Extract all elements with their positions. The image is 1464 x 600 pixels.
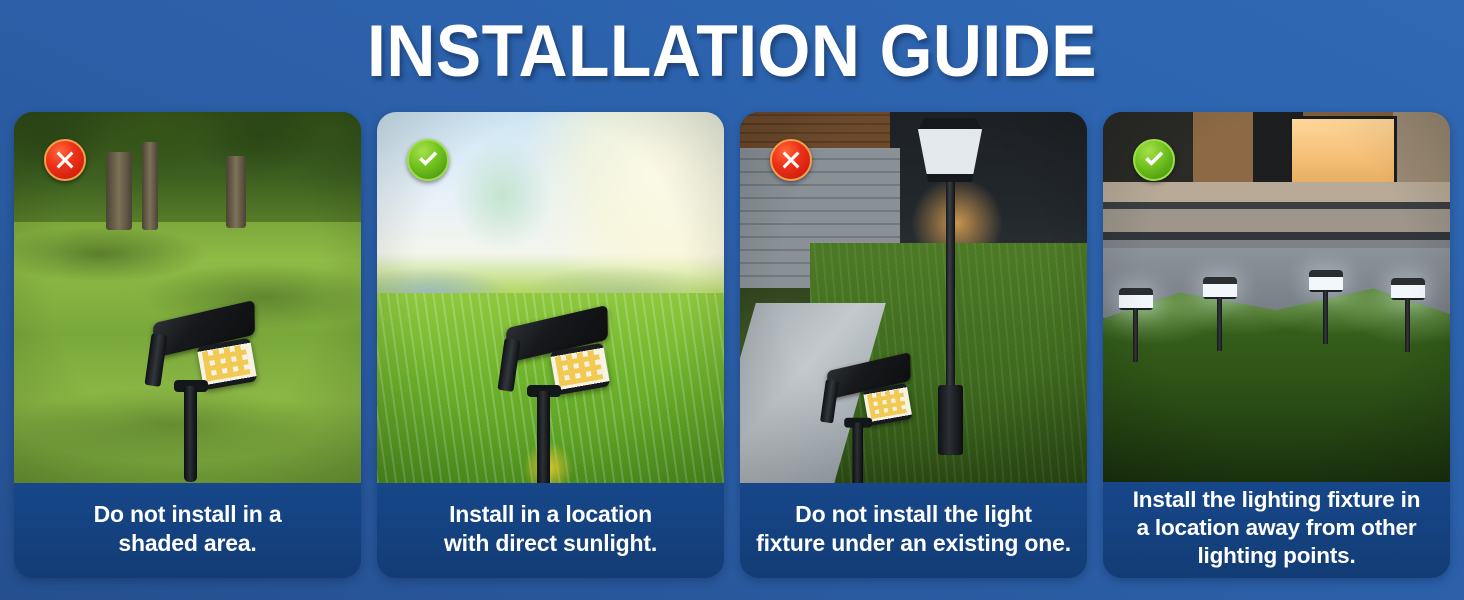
guide-card-grid: Do not install in a shaded area. bbox=[14, 112, 1450, 578]
guide-card-away-from-other-lights: Install the lighting fixture in a locati… bbox=[1103, 112, 1450, 578]
page-title: INSTALLATION GUIDE bbox=[51, 12, 1413, 92]
check-badge-icon bbox=[1133, 139, 1175, 181]
card-photo-under-existing-fixture bbox=[740, 112, 1087, 483]
solar-spotlight-fixture bbox=[142, 312, 272, 483]
cross-badge-icon bbox=[44, 139, 86, 181]
ground-stake bbox=[1133, 309, 1138, 362]
fixture-neck bbox=[820, 379, 839, 423]
solar-path-light bbox=[1309, 270, 1343, 344]
guide-card-under-existing-fixture: Do not install the light fixture under a… bbox=[740, 112, 1087, 578]
card-photo-shaded-area bbox=[14, 112, 361, 483]
caption-line: Install in a location bbox=[449, 501, 652, 527]
caption-text: Do not install the light fixture under a… bbox=[756, 500, 1071, 558]
ground-stake bbox=[1323, 291, 1328, 344]
guide-card-direct-sunlight: Install in a location with direct sunlig… bbox=[377, 112, 724, 578]
card-caption-direct-sunlight: Install in a location with direct sunlig… bbox=[377, 483, 724, 578]
background-hills bbox=[377, 232, 724, 302]
lit-sliding-door bbox=[1289, 116, 1397, 186]
caption-line: with direct sunlight. bbox=[444, 530, 657, 556]
card-caption-under-existing-fixture: Do not install the light fixture under a… bbox=[740, 483, 1087, 578]
caption-line: fixture under an existing one. bbox=[756, 530, 1071, 556]
guide-card-shaded-area: Do not install in a shaded area. bbox=[14, 112, 361, 578]
led-head bbox=[1309, 270, 1343, 292]
led-head bbox=[1391, 278, 1425, 300]
card-caption-shaded-area: Do not install in a shaded area. bbox=[14, 483, 361, 578]
caption-text: Do not install in a shaded area. bbox=[94, 500, 282, 558]
solar-path-light bbox=[1391, 278, 1425, 352]
caption-text: Install in a location with direct sunlig… bbox=[444, 500, 657, 558]
fixture-neck bbox=[144, 333, 167, 387]
ground-stake bbox=[1217, 298, 1222, 351]
check-badge-icon bbox=[407, 139, 449, 181]
ground-stake bbox=[537, 391, 550, 483]
installation-guide-banner: INSTALLATION GUIDE bbox=[0, 0, 1464, 600]
ground-stake bbox=[184, 386, 197, 482]
ground-stake bbox=[1405, 299, 1410, 352]
card-photo-away-from-other-lights bbox=[1103, 112, 1450, 482]
card-photo-direct-sunlight bbox=[377, 112, 724, 483]
caption-line: a location away from other bbox=[1137, 515, 1417, 540]
lamp-post-base bbox=[938, 385, 963, 455]
caption-line: lighting points. bbox=[1197, 543, 1355, 568]
caption-line: Do not install the light bbox=[795, 501, 1032, 527]
solar-spotlight-fixture bbox=[495, 317, 625, 483]
caption-text: Install the lighting fixture in a locati… bbox=[1133, 486, 1421, 570]
caption-line: shaded area. bbox=[118, 530, 256, 556]
solar-path-light bbox=[1203, 277, 1237, 351]
led-head bbox=[1203, 277, 1237, 299]
house-siding bbox=[740, 112, 890, 150]
deck-steps bbox=[1103, 182, 1450, 254]
caption-line: Do not install in a bbox=[94, 501, 282, 527]
cross-badge-icon bbox=[770, 139, 812, 181]
ground-stake bbox=[852, 423, 863, 483]
fixture-neck bbox=[497, 338, 520, 392]
solar-spotlight-fixture bbox=[818, 362, 908, 483]
card-caption-away-from-other-lights: Install the lighting fixture in a locati… bbox=[1103, 482, 1450, 578]
led-head bbox=[1119, 288, 1153, 310]
solar-path-light bbox=[1119, 288, 1153, 362]
lamp-post-head bbox=[918, 118, 982, 182]
caption-line: Install the lighting fixture in bbox=[1133, 487, 1421, 512]
